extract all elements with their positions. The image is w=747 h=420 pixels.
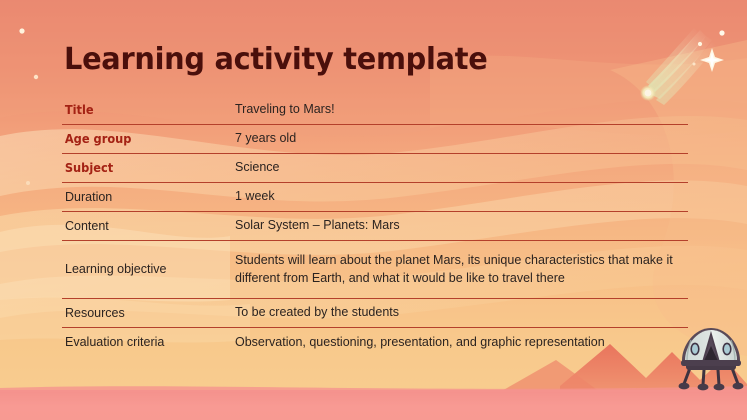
row-label: Content bbox=[62, 218, 235, 235]
row-value[interactable]: Solar System – Planets: Mars bbox=[235, 217, 688, 235]
row-value[interactable]: Traveling to Mars! bbox=[235, 101, 688, 119]
row-label: Resources bbox=[62, 305, 235, 322]
row-value[interactable]: Science bbox=[235, 159, 688, 177]
learning-activity-table: TitleTraveling to Mars!Age group7 years … bbox=[62, 96, 688, 357]
table-row: Duration1 week bbox=[62, 183, 688, 212]
row-label: Learning objective bbox=[62, 261, 235, 278]
table-row: Learning objectiveStudents will learn ab… bbox=[62, 241, 688, 299]
table-row: SubjectScience bbox=[62, 154, 688, 183]
slide-canvas: Learning activity template TitleTravelin… bbox=[0, 0, 747, 420]
row-value[interactable]: Students will learn about the planet Mar… bbox=[235, 245, 688, 295]
row-label: Title bbox=[62, 102, 226, 118]
table-row: ContentSolar System – Planets: Mars bbox=[62, 212, 688, 241]
page-title: Learning activity template bbox=[64, 42, 487, 77]
row-value[interactable]: 1 week bbox=[235, 188, 688, 206]
row-label: Evaluation criteria bbox=[62, 334, 235, 351]
row-label: Duration bbox=[62, 189, 235, 206]
row-value[interactable]: Observation, questioning, presentation, … bbox=[235, 334, 688, 352]
table-row: Age group7 years old bbox=[62, 125, 688, 154]
row-value[interactable]: 7 years old bbox=[235, 130, 688, 148]
row-value[interactable]: To be created by the students bbox=[235, 304, 688, 322]
table-row: TitleTraveling to Mars! bbox=[62, 96, 688, 125]
table-row: Evaluation criteriaObservation, question… bbox=[62, 328, 688, 357]
row-label: Age group bbox=[62, 131, 226, 147]
table-row: ResourcesTo be created by the students bbox=[62, 299, 688, 328]
row-label: Subject bbox=[62, 160, 226, 176]
